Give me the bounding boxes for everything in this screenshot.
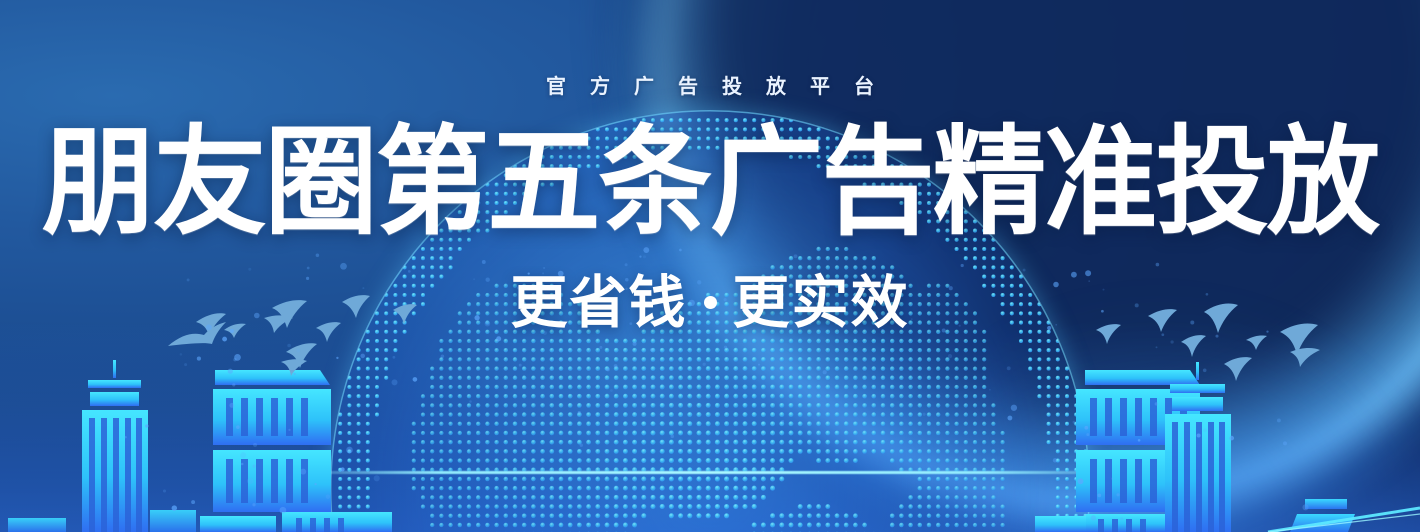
advertising-banner: 官方广告投放平台 朋友圈第五条广告精准投放 更省钱更实效 — [0, 0, 1420, 532]
headline-text: 朋友圈第五条广告精准投放 — [42, 123, 1378, 243]
subtitle-text: 更省钱更实效 — [511, 257, 910, 339]
subtitle-right: 更实效 — [733, 271, 910, 335]
banner-content: 官方广告投放平台 朋友圈第五条广告精准投放 更省钱更实效 — [0, 0, 1420, 532]
eyebrow-text: 官方广告投放平台 — [522, 70, 898, 99]
subtitle-left: 更省钱 — [511, 271, 688, 335]
subtitle-separator-dot — [704, 296, 717, 309]
